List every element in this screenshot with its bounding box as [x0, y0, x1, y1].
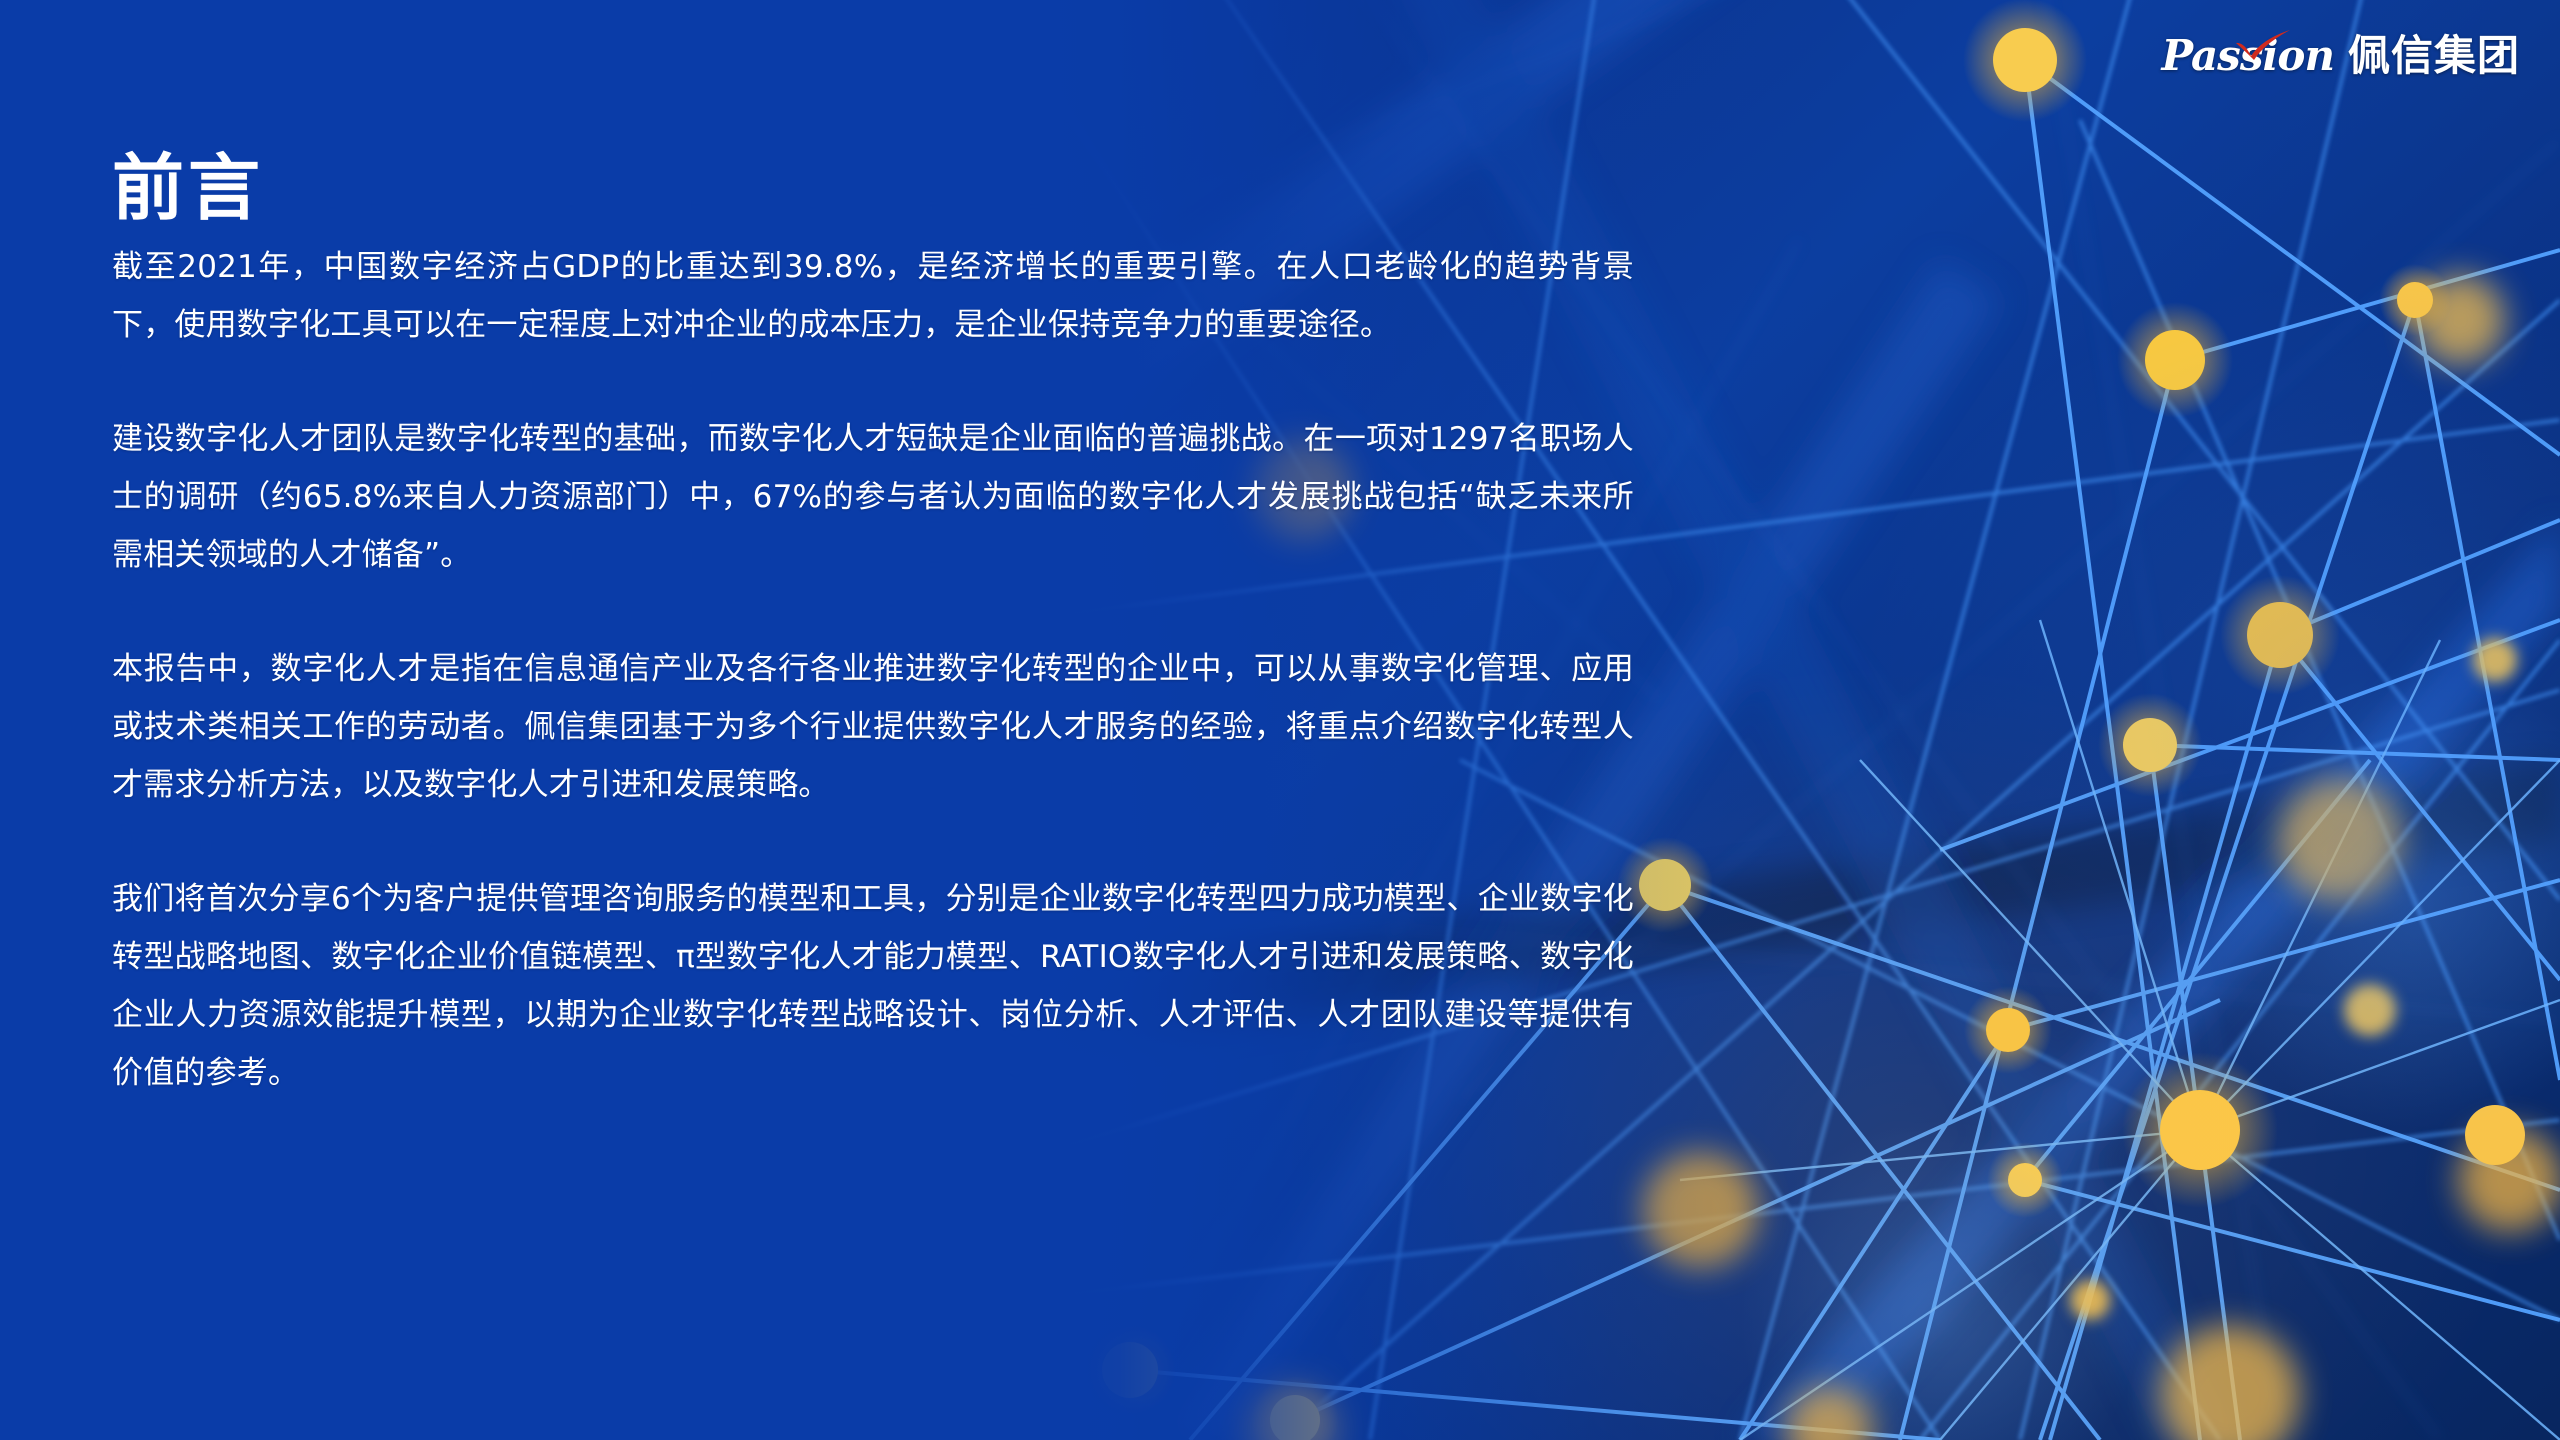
brand-logo: Passion 佩信集团 [2162, 30, 2520, 82]
check-icon [2234, 30, 2292, 60]
paragraph-3: 本报告中，数字化人才是指在信息通信产业及各行各业推进数字化转型的企业中，可以从事… [112, 640, 1634, 814]
paragraph-2: 建设数字化人才团队是数字化转型的基础，而数字化人才短缺是企业面临的普遍挑战。在一… [112, 410, 1634, 584]
slide-root: Passion 佩信集团 前言 截至2021年，中国数字经济占GDP的比重达到3… [0, 0, 2560, 1440]
slide-content: 前言 截至2021年，中国数字经济占GDP的比重达到39.8%，是经济增长的重要… [0, 0, 1700, 1440]
paragraph-1: 截至2021年，中国数字经济占GDP的比重达到39.8%，是经济增长的重要引擎。… [112, 238, 1634, 354]
page-title: 前言 [112, 152, 264, 224]
body-copy: 截至2021年，中国数字经济占GDP的比重达到39.8%，是经济增长的重要引擎。… [112, 238, 1634, 1102]
logo-wordmark-group: Passion [2162, 30, 2334, 82]
logo-company-name: 佩信集团 [2348, 30, 2520, 82]
paragraph-4: 我们将首次分享6个为客户提供管理咨询服务的模型和工具，分别是企业数字化转型四力成… [112, 870, 1634, 1102]
